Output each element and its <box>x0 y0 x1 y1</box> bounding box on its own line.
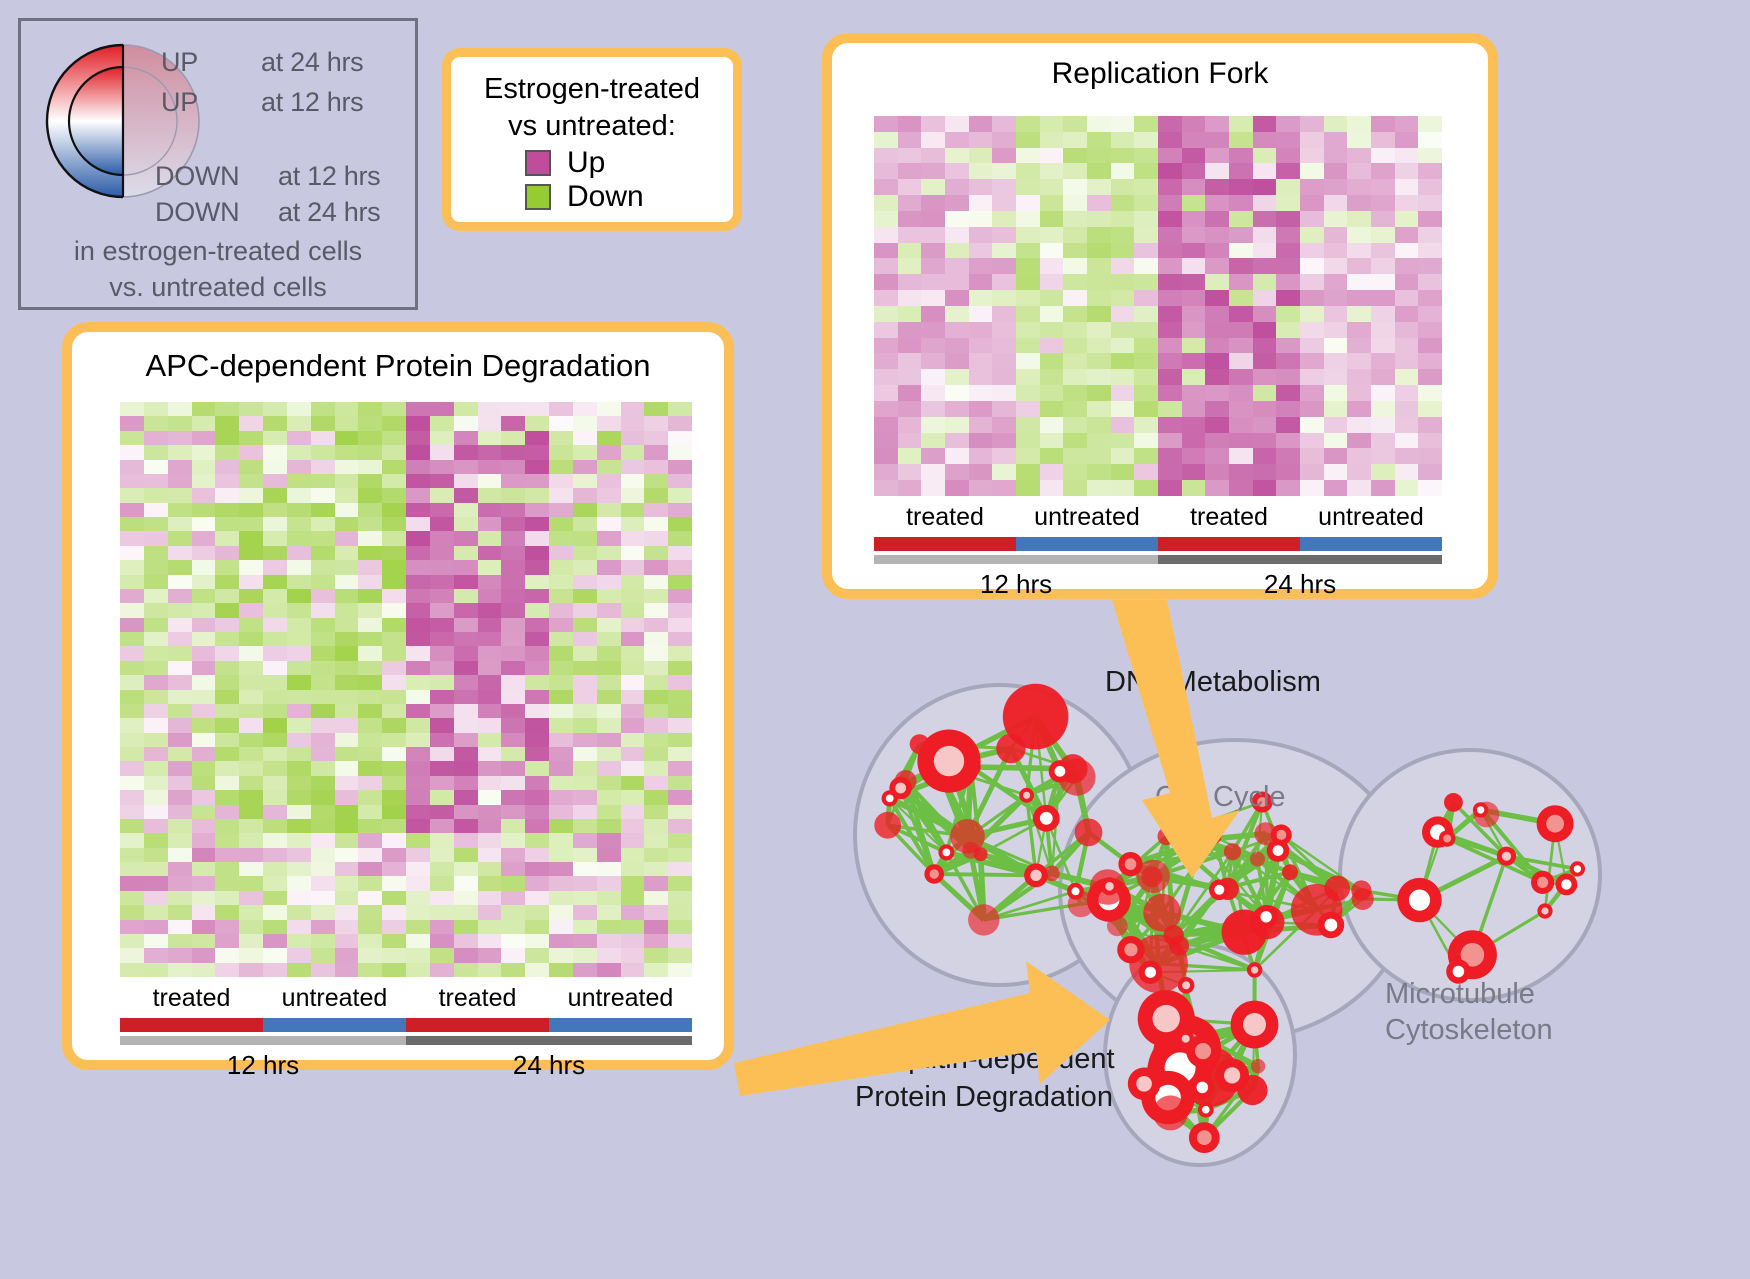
heatmap-cell <box>1276 322 1300 338</box>
heatmap-cell <box>1087 401 1111 417</box>
network-node[interactable] <box>1224 843 1241 860</box>
heatmap-cell <box>406 862 430 876</box>
heatmap-cell <box>644 948 668 962</box>
heatmap-cell <box>1087 132 1111 148</box>
heatmap-cell <box>406 445 430 459</box>
heatmap-cell <box>644 963 668 977</box>
heatmap-cell <box>1418 258 1442 274</box>
heatmap-cell <box>430 560 454 574</box>
heatmap-cell <box>1040 148 1064 164</box>
heatmap-cell <box>525 805 549 819</box>
heatmap-cell <box>430 934 454 948</box>
network-node[interactable] <box>1153 1095 1188 1130</box>
heatmap-cell <box>898 258 922 274</box>
heatmap-cell <box>1253 369 1277 385</box>
heatmap-cell <box>1111 464 1135 480</box>
heatmap-cell <box>1205 322 1229 338</box>
heatmap-cell <box>239 963 263 977</box>
heatmap-cell <box>969 243 993 259</box>
heatmap-cell <box>168 646 192 660</box>
heatmap-cell <box>1134 211 1158 227</box>
heatmap-cell <box>263 862 287 876</box>
heatmap-cell <box>358 690 382 704</box>
heatmap-cell <box>144 747 168 761</box>
heatmap-cell <box>263 431 287 445</box>
heatmap-cell <box>1371 243 1395 259</box>
heatmap-cell <box>621 920 645 934</box>
heatmap-cell <box>1229 243 1253 259</box>
heatmap-cell <box>597 819 621 833</box>
heatmap-cell <box>525 431 549 445</box>
heatmap-cell <box>454 718 478 732</box>
heatmap-cell <box>874 353 898 369</box>
heatmap-cell <box>406 460 430 474</box>
heatmap-cell <box>921 195 945 211</box>
heatmap-cell <box>192 848 216 862</box>
heatmap-cell <box>239 718 263 732</box>
heatmap-cell <box>1395 480 1419 496</box>
heatmap-cell <box>668 819 692 833</box>
heatmap-cell <box>287 661 311 675</box>
heatmap-cell <box>1300 306 1324 322</box>
heatmap-cell <box>430 920 454 934</box>
network-node[interactable] <box>874 812 901 839</box>
heatmap-cell <box>597 560 621 574</box>
heatmap-cell <box>1253 464 1277 480</box>
heatmap-cell <box>263 704 287 718</box>
heatmap-cell <box>335 675 359 689</box>
heatmap-cell <box>478 675 502 689</box>
heatmap-cell <box>1395 464 1419 480</box>
heatmap-cell <box>621 589 645 603</box>
heatmap-cell <box>335 761 359 775</box>
heatmap-cell <box>335 747 359 761</box>
network-node[interactable] <box>1444 793 1463 812</box>
time-label-24hrs: 24 hrs <box>406 1050 692 1081</box>
heatmap-cell <box>1016 211 1040 227</box>
heatmap-cell <box>1253 401 1277 417</box>
heatmap-cell <box>597 790 621 804</box>
heatmap-cell <box>1418 195 1442 211</box>
heatmap-cell <box>1158 243 1182 259</box>
heatmap-cell <box>621 790 645 804</box>
heatmap-cell <box>597 503 621 517</box>
heatmap-cell <box>287 920 311 934</box>
heatmap-cell <box>1324 227 1348 243</box>
heatmap-cell <box>969 448 993 464</box>
heatmap-cell <box>120 776 144 790</box>
time-label-24hrs: 24 hrs <box>1158 569 1442 600</box>
heatmap-cell <box>525 646 549 660</box>
colorwheel-caption-line1: in estrogen-treated cells <box>21 233 415 269</box>
heatmap-cell <box>898 148 922 164</box>
heatmap-cell <box>478 488 502 502</box>
network-node[interactable] <box>1158 827 1176 845</box>
heatmap-cell <box>1324 417 1348 433</box>
heatmap-cell <box>1418 480 1442 496</box>
network-node-core <box>1502 852 1511 861</box>
network-node[interactable] <box>1044 866 1060 882</box>
heatmap-cell <box>335 503 359 517</box>
heatmap-cell <box>1253 258 1277 274</box>
heatmap-cell <box>239 948 263 962</box>
network-node-core <box>886 795 894 803</box>
heatmap-cell <box>573 833 597 847</box>
group-bar-0 <box>120 1018 263 1032</box>
heatmap-cell <box>311 575 335 589</box>
heatmap-cell <box>311 948 335 962</box>
heatmap-cell <box>1016 116 1040 132</box>
heatmap-cell <box>120 876 144 890</box>
heatmap-cell <box>668 761 692 775</box>
heatmap-cell <box>168 704 192 718</box>
network-node[interactable] <box>962 842 979 859</box>
legend-down-12-time: at 12 hrs <box>278 161 380 192</box>
heatmap-cell <box>597 761 621 775</box>
heatmap-cell <box>192 460 216 474</box>
heatmap-cell <box>358 805 382 819</box>
heatmap-cell <box>644 445 668 459</box>
heatmap-cell <box>668 560 692 574</box>
heatmap-cell <box>573 618 597 632</box>
heatmap-cell <box>1371 163 1395 179</box>
network-node[interactable] <box>1207 830 1221 844</box>
heatmap-cell <box>454 761 478 775</box>
heatmap-cell <box>501 920 525 934</box>
heatmap-cell <box>1087 322 1111 338</box>
heatmap-cell <box>1276 227 1300 243</box>
heatmap-cell <box>263 632 287 646</box>
heatmap-cell <box>192 733 216 747</box>
heatmap-cell <box>921 132 945 148</box>
time-label-12hrs: 12 hrs <box>874 569 1158 600</box>
heatmap-cell <box>120 718 144 732</box>
heatmap-cell <box>1276 401 1300 417</box>
heatmap-cell <box>1347 306 1371 322</box>
heatmap-cell <box>120 833 144 847</box>
network-node-core <box>1574 865 1581 872</box>
heatmap-cell <box>215 963 239 977</box>
heatmap-cell <box>501 761 525 775</box>
heatmap-cell <box>335 589 359 603</box>
heatmap-cell <box>621 905 645 919</box>
heatmap-cell <box>945 448 969 464</box>
network-node-core <box>1145 967 1156 978</box>
heatmap-cell <box>1371 464 1395 480</box>
network-node[interactable] <box>968 904 999 935</box>
heatmap-cell <box>621 690 645 704</box>
heatmap-cell <box>1276 148 1300 164</box>
heatmap-cell <box>430 503 454 517</box>
heatmap-cell <box>1253 163 1277 179</box>
heatmap-cell <box>1205 195 1229 211</box>
heatmap-cell <box>1205 464 1229 480</box>
heatmap-cell <box>1205 401 1229 417</box>
heatmap-cell <box>874 385 898 401</box>
network-node[interactable] <box>1351 880 1371 900</box>
heatmap-cell <box>335 560 359 574</box>
heatmap-cell <box>621 661 645 675</box>
heatmap-cell <box>549 603 573 617</box>
heatmap-cell <box>144 819 168 833</box>
heatmap-cell <box>144 920 168 934</box>
time-bar-24hrs <box>1158 555 1442 564</box>
heatmap-cell <box>1253 290 1277 306</box>
heatmap-cell <box>597 718 621 732</box>
heatmap-cell <box>263 675 287 689</box>
heatmap-cell <box>1063 338 1087 354</box>
heatmap-cell <box>549 531 573 545</box>
heatmap-cell <box>1063 464 1087 480</box>
heatmap-cell <box>311 460 335 474</box>
heatmap-cell <box>1158 211 1182 227</box>
heatmap-cell <box>168 747 192 761</box>
heatmap-cell <box>1276 480 1300 496</box>
heatmap-cell <box>668 416 692 430</box>
heatmap-cell <box>644 661 668 675</box>
heatmap-cell <box>144 474 168 488</box>
heatmap-cell <box>1347 274 1371 290</box>
heatmap-cell <box>168 833 192 847</box>
heatmap-cell <box>287 488 311 502</box>
heatmap-cell <box>573 718 597 732</box>
heatmap-cell <box>1300 448 1324 464</box>
heatmap-cell <box>335 934 359 948</box>
network-node[interactable] <box>1251 1059 1265 1073</box>
heatmap-cell <box>1253 132 1277 148</box>
heatmap-cell <box>921 433 945 449</box>
heatmap-cell <box>478 862 502 876</box>
heatmap-cell <box>358 560 382 574</box>
heatmap-cell <box>525 675 549 689</box>
heatmap-cell <box>1371 448 1395 464</box>
down-swatch-icon <box>525 184 551 210</box>
heatmap-cell <box>168 963 192 977</box>
heatmap-cell <box>921 401 945 417</box>
heatmap-cell <box>921 179 945 195</box>
heatmap-cell <box>120 661 144 675</box>
heatmap-cell <box>120 934 144 948</box>
heatmap-cell <box>898 433 922 449</box>
heatmap-cell <box>621 646 645 660</box>
heatmap-cell <box>144 905 168 919</box>
heatmap-cell <box>382 661 406 675</box>
heatmap-cell <box>192 488 216 502</box>
heatmap-cell <box>144 733 168 747</box>
group-labels-apc: treated untreated treated untreated <box>120 984 692 1013</box>
heatmap-cell <box>1371 338 1395 354</box>
heatmap-cell <box>1418 163 1442 179</box>
heatmap-cell <box>874 258 898 274</box>
heatmap-cell <box>1395 417 1419 433</box>
heatmap-cell <box>573 819 597 833</box>
heatmap-cell <box>573 460 597 474</box>
heatmap-cell <box>406 560 430 574</box>
heatmap-cell <box>1347 116 1371 132</box>
heatmap-cell <box>311 402 335 416</box>
heatmap-cell <box>1158 132 1182 148</box>
heatmap-cell <box>501 474 525 488</box>
network-node[interactable] <box>1107 916 1128 937</box>
group-color-bar-apc <box>120 1018 692 1032</box>
heatmap-cell <box>644 416 668 430</box>
heatmap-cell <box>597 704 621 718</box>
heatmap-cell <box>168 733 192 747</box>
heatmap-cell <box>382 517 406 531</box>
heatmap-cell <box>454 704 478 718</box>
heatmap-cell <box>1182 211 1206 227</box>
heatmap-cell <box>335 948 359 962</box>
heatmap-cell <box>168 819 192 833</box>
heatmap-cell <box>335 891 359 905</box>
heatmap-cell <box>1418 369 1442 385</box>
heatmap-cell <box>120 905 144 919</box>
heatmap-cell <box>406 704 430 718</box>
heatmap-cell <box>215 575 239 589</box>
heatmap-cell <box>239 862 263 876</box>
heatmap-cell <box>478 819 502 833</box>
heatmap-cell <box>1111 433 1135 449</box>
heatmap-cell <box>1300 290 1324 306</box>
heatmap-cell <box>668 431 692 445</box>
heatmap-cell <box>192 819 216 833</box>
heatmap-cell <box>874 369 898 385</box>
heatmap-cell <box>382 690 406 704</box>
heatmap-cell <box>430 488 454 502</box>
heatmap-cell <box>1371 353 1395 369</box>
heatmap-cell <box>358 460 382 474</box>
heatmap-cell <box>945 290 969 306</box>
heatmap-cell <box>621 402 645 416</box>
heatmap-cell <box>335 575 359 589</box>
heatmap-cell <box>1016 464 1040 480</box>
heatmap-cell <box>501 560 525 574</box>
heatmap-cell <box>1300 385 1324 401</box>
heatmap-cell <box>921 274 945 290</box>
network-node[interactable] <box>996 734 1025 763</box>
heatmap-cell <box>597 805 621 819</box>
heatmap-cell <box>501 718 525 732</box>
heatmap-cell <box>1300 116 1324 132</box>
heatmap-cell <box>358 963 382 977</box>
heatmap-cell <box>1087 464 1111 480</box>
time-bar-24hrs <box>406 1036 692 1045</box>
heatmap-cell <box>120 416 144 430</box>
network-node[interactable] <box>1250 852 1265 867</box>
heatmap-cell <box>215 460 239 474</box>
heatmap-cell <box>597 546 621 560</box>
heatmap-cell <box>1016 338 1040 354</box>
network-node[interactable] <box>1137 860 1170 893</box>
heatmap-cell <box>358 833 382 847</box>
heatmap-cell <box>1229 211 1253 227</box>
heatmap-cell <box>1418 417 1442 433</box>
heatmap-cell <box>573 560 597 574</box>
heatmap-cell <box>1205 132 1229 148</box>
heatmap-cell <box>120 445 144 459</box>
heatmap-cell <box>144 517 168 531</box>
updown-legend: Estrogen-treated vs untreated: Up Down <box>442 48 742 231</box>
heatmap-cell <box>144 862 168 876</box>
network-node[interactable] <box>1324 876 1350 902</box>
heatmap-cell <box>1229 116 1253 132</box>
heatmap-cell <box>668 646 692 660</box>
heatmap-cell <box>501 603 525 617</box>
heatmap-cell <box>454 747 478 761</box>
heatmap-cell <box>874 401 898 417</box>
heatmap-cell <box>1158 148 1182 164</box>
heatmap-cell <box>1087 243 1111 259</box>
heatmap-cell <box>525 632 549 646</box>
heatmap-cell <box>311 733 335 747</box>
heatmap-cell <box>1324 369 1348 385</box>
heatmap-cell <box>192 517 216 531</box>
heatmap-cell <box>1040 163 1064 179</box>
heatmap-cell <box>1324 132 1348 148</box>
heatmap-cell <box>335 661 359 675</box>
heatmap-cell <box>644 560 668 574</box>
heatmap-cell <box>1063 258 1087 274</box>
heatmap-cell <box>192 416 216 430</box>
heatmap-cell <box>621 416 645 430</box>
network-node[interactable] <box>1282 864 1298 880</box>
heatmap-cell <box>311 790 335 804</box>
heatmap-cell <box>287 790 311 804</box>
heatmap-cell <box>478 747 502 761</box>
heatmap-cell <box>192 560 216 574</box>
heatmap-cell <box>1205 227 1229 243</box>
heatmap-cell <box>1158 353 1182 369</box>
heatmap-cell <box>311 848 335 862</box>
heatmap-cell <box>144 934 168 948</box>
heatmap-cell <box>1276 369 1300 385</box>
heatmap-cell <box>406 531 430 545</box>
heatmap-cell <box>358 474 382 488</box>
heatmap-cell <box>921 353 945 369</box>
heatmap-cell <box>969 338 993 354</box>
heatmap-cell <box>573 517 597 531</box>
heatmap-cell <box>382 460 406 474</box>
heatmap-cell <box>478 445 502 459</box>
heatmap-cell <box>1111 243 1135 259</box>
heatmap-cell <box>287 704 311 718</box>
heatmap-cell <box>945 227 969 243</box>
heatmap-cell <box>992 116 1016 132</box>
heatmap-cell <box>898 132 922 148</box>
time-color-bar-replication-fork <box>874 555 1442 564</box>
heatmap-cell <box>1229 179 1253 195</box>
heatmap-cell <box>898 243 922 259</box>
heatmap-cell <box>120 862 144 876</box>
heatmap-cell <box>478 603 502 617</box>
heatmap-cell <box>215 661 239 675</box>
heatmap-cell <box>263 948 287 962</box>
heatmap-cell <box>1134 369 1158 385</box>
heatmap-cell <box>1371 258 1395 274</box>
heatmap-cell <box>1253 227 1277 243</box>
heatmap-cell <box>1205 290 1229 306</box>
heatmap-cell <box>573 632 597 646</box>
network-node[interactable] <box>1075 819 1103 847</box>
heatmap-cell <box>358 905 382 919</box>
heatmap-cell <box>644 675 668 689</box>
heatmap-cell <box>454 848 478 862</box>
heatmap-cell <box>144 805 168 819</box>
heatmap-cell <box>573 675 597 689</box>
heatmap-cell <box>1300 338 1324 354</box>
legend-up-24-time: at 24 hrs <box>261 47 363 78</box>
heatmap-cell <box>1229 433 1253 449</box>
